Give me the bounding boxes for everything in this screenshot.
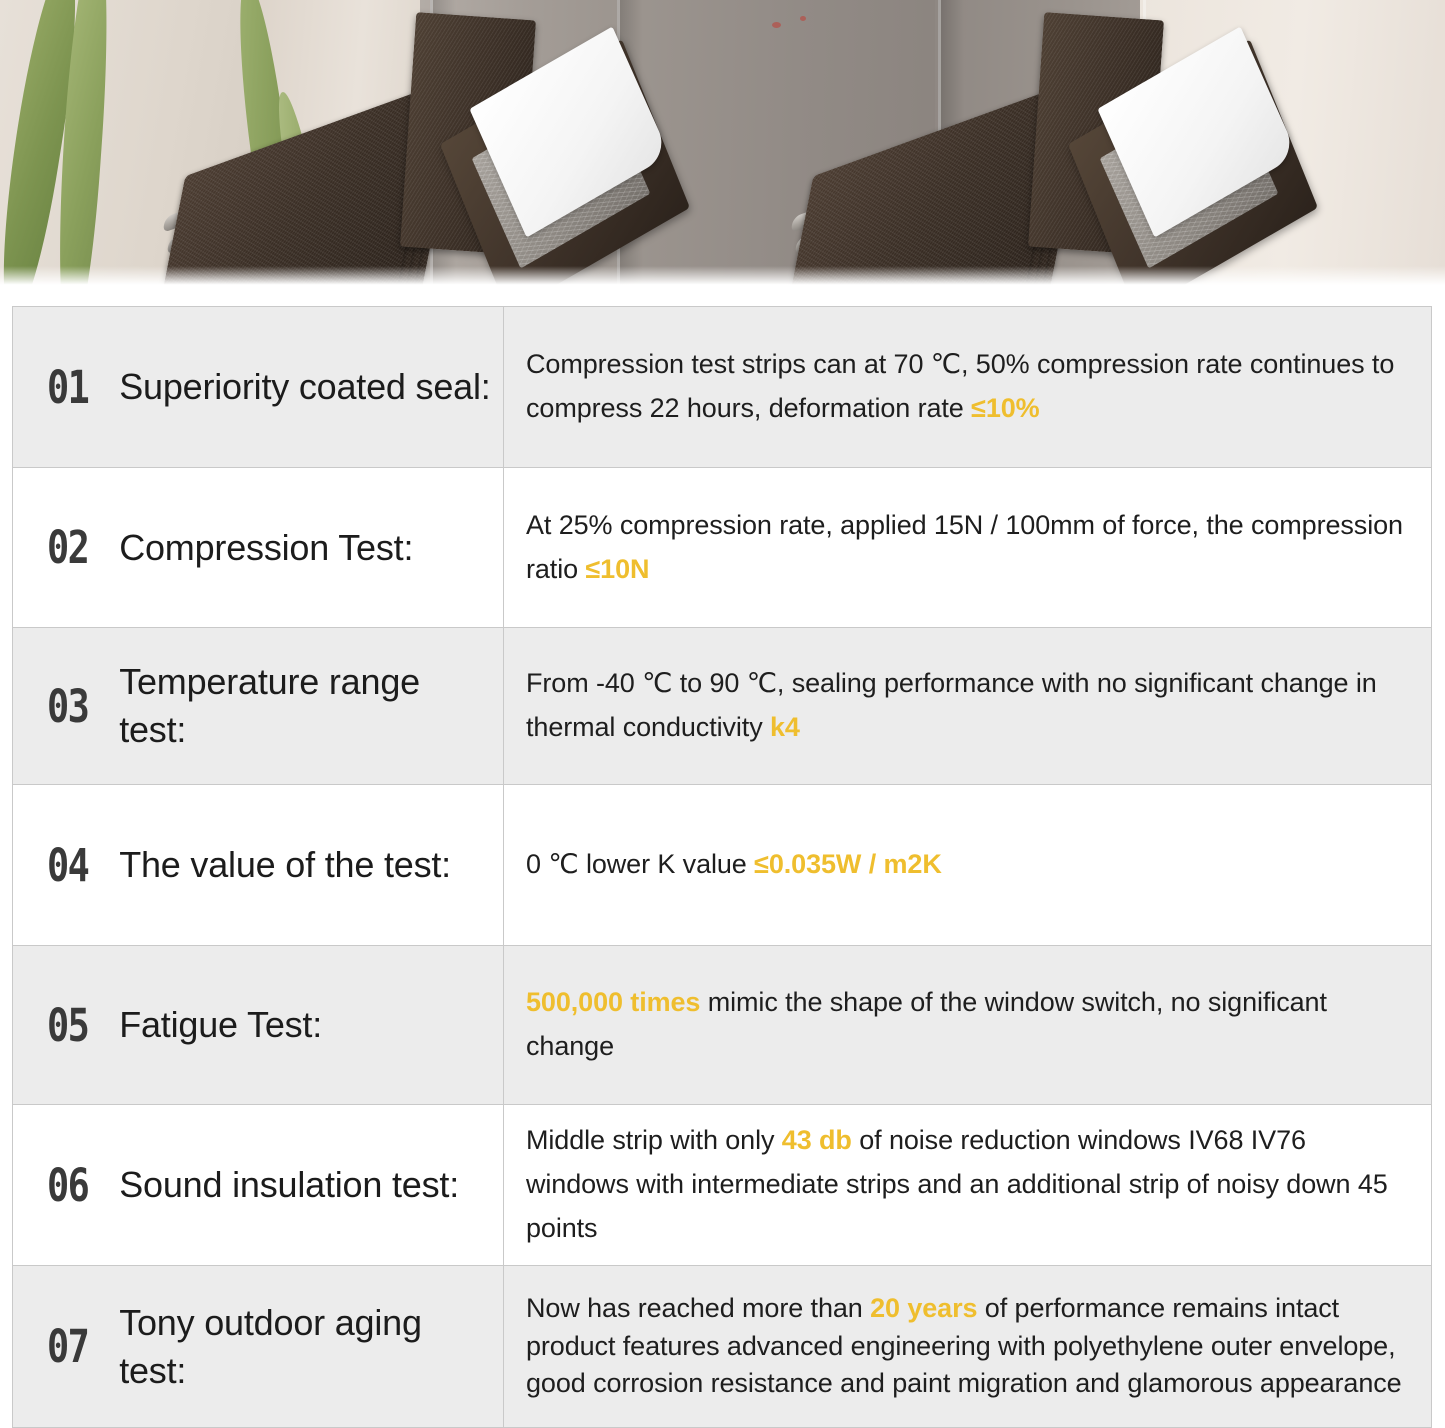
spec-description-cell: Compression test strips can at 70 ℃, 50%… (504, 307, 1431, 467)
spec-number: 04 (47, 843, 88, 888)
description-text-run: Now has reached more than (526, 1293, 870, 1323)
spec-description: 500,000 times mimic the shape of the win… (526, 981, 1411, 1068)
spec-label-cell: 04 The value of the test: (13, 785, 504, 945)
description-text-run: From -40 ℃ to 90 ℃, sealing performance … (526, 668, 1377, 742)
highlighted-value: 20 years (870, 1293, 977, 1323)
infographic-page: 01 Superiority coated seal: Compression … (0, 0, 1445, 1428)
spec-title: Sound insulation test: (119, 1161, 459, 1209)
table-row: 07 Tony outdoor aging test: Now has reac… (13, 1266, 1431, 1427)
table-row: 01 Superiority coated seal: Compression … (13, 307, 1431, 468)
product-photo (0, 0, 1445, 292)
spec-title: Tony outdoor aging test: (119, 1299, 493, 1394)
spec-title: Temperature range test: (119, 658, 493, 753)
highlighted-value: ≤10% (971, 393, 1039, 423)
table-row: 05 Fatigue Test: 500,000 times mimic the… (13, 946, 1431, 1105)
description-text-run: Compression test strips can at 70 ℃, 50%… (526, 349, 1394, 423)
table-row: 02 Compression Test: At 25% compression … (13, 468, 1431, 628)
table-row: 03 Temperature range test: From -40 ℃ to… (13, 628, 1431, 785)
spec-label-cell: 01 Superiority coated seal: (13, 307, 504, 467)
highlighted-value: ≤0.035W / m2K (754, 849, 942, 879)
spec-label-cell: 06 Sound insulation test: (13, 1105, 504, 1265)
spec-description-cell: At 25% compression rate, applied 15N / 1… (504, 468, 1431, 627)
spec-description-cell: 0 ℃ lower K value ≤0.035W / m2K (504, 785, 1431, 945)
spec-description: From -40 ℃ to 90 ℃, sealing performance … (526, 662, 1411, 749)
highlighted-value: 500,000 times (526, 987, 700, 1017)
spec-label-cell: 02 Compression Test: (13, 468, 504, 627)
spec-description: 0 ℃ lower K value ≤0.035W / m2K (526, 843, 942, 887)
spec-title: The value of the test: (119, 841, 451, 889)
spec-title: Superiority coated seal: (119, 363, 490, 411)
spec-number: 05 (47, 1003, 88, 1048)
spec-title: Compression Test: (119, 524, 413, 572)
spec-number: 02 (47, 525, 88, 570)
spec-description-cell: 500,000 times mimic the shape of the win… (504, 946, 1431, 1104)
spec-label-cell: 03 Temperature range test: (13, 628, 504, 784)
paint-speck (772, 22, 781, 28)
highlighted-value: 43 db (782, 1125, 852, 1155)
spec-number: 03 (47, 684, 88, 729)
description-text-run: 0 ℃ lower K value (526, 849, 754, 879)
highlighted-value: k4 (770, 712, 800, 742)
highlighted-value: ≤10N (585, 554, 649, 584)
spec-title: Fatigue Test: (119, 1001, 322, 1049)
description-text-run: Middle strip with only (526, 1125, 782, 1155)
spec-number: 01 (47, 365, 88, 410)
spec-description: Compression test strips can at 70 ℃, 50%… (526, 343, 1411, 430)
paint-speck (800, 16, 806, 21)
spec-description-cell: From -40 ℃ to 90 ℃, sealing performance … (504, 628, 1431, 784)
spec-description-cell: Now has reached more than 20 years of pe… (504, 1266, 1431, 1427)
spec-label-cell: 05 Fatigue Test: (13, 946, 504, 1104)
photo-bottom-fade (0, 266, 1445, 292)
spec-description: At 25% compression rate, applied 15N / 1… (526, 504, 1411, 591)
spec-description-cell: Middle strip with only 43 db of noise re… (504, 1105, 1431, 1265)
spec-description: Now has reached more than 20 years of pe… (526, 1290, 1411, 1403)
table-row: 06 Sound insulation test: Middle strip w… (13, 1105, 1431, 1266)
spec-number: 07 (47, 1324, 88, 1369)
table-row: 04 The value of the test: 0 ℃ lower K va… (13, 785, 1431, 946)
spec-description: Middle strip with only 43 db of noise re… (526, 1119, 1411, 1250)
specification-table: 01 Superiority coated seal: Compression … (12, 306, 1432, 1428)
spec-label-cell: 07 Tony outdoor aging test: (13, 1266, 504, 1427)
description-text-run: At 25% compression rate, applied 15N / 1… (526, 510, 1403, 584)
spec-number: 06 (47, 1163, 88, 1208)
